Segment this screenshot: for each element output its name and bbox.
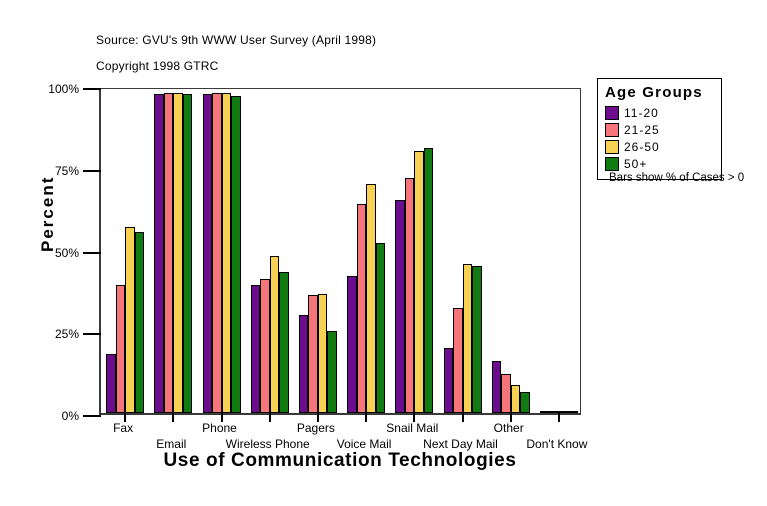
x-axis-tick-label: Don't Know	[526, 437, 587, 451]
y-axis-tick	[83, 170, 101, 172]
legend-entry: 26-50	[605, 138, 714, 155]
bar	[453, 308, 463, 413]
bar	[395, 200, 405, 413]
bar	[318, 294, 328, 413]
bar	[540, 411, 550, 413]
legend-swatch-icon	[605, 106, 619, 120]
bar	[164, 93, 174, 413]
x-axis-tick-label: Snail Mail	[386, 421, 438, 435]
x-axis-tick-label: Fax	[113, 421, 133, 435]
x-axis-tick	[365, 413, 367, 422]
bar	[376, 243, 386, 413]
bar	[520, 392, 530, 413]
bar	[212, 93, 222, 413]
bar	[472, 266, 482, 413]
x-axis-tick-label: Phone	[202, 421, 237, 435]
chart-legend: Age Groups 11-2021-2526-5050+	[597, 78, 722, 180]
legend-entry-label: 50+	[624, 157, 647, 171]
bar	[270, 256, 280, 413]
bar	[366, 184, 376, 413]
legend-entry: 11-20	[605, 104, 714, 121]
x-axis-title: Use of Communication Technologies	[99, 450, 581, 472]
legend-entry-label: 21-25	[624, 123, 660, 137]
bar-group	[203, 89, 241, 413]
bar	[347, 276, 357, 413]
legend-footnote: Bars show % of Cases > 0	[609, 172, 744, 184]
bar	[424, 148, 434, 413]
legend-swatch-icon	[605, 123, 619, 137]
bar	[357, 204, 367, 413]
x-axis-tick-label: Email	[156, 437, 186, 451]
bar	[559, 411, 569, 413]
y-axis-tick	[83, 252, 101, 254]
bar	[116, 285, 126, 413]
bar-group	[395, 89, 433, 413]
bar	[299, 315, 309, 413]
bar	[222, 93, 232, 413]
bar	[106, 354, 116, 413]
bar	[463, 264, 473, 413]
bar	[511, 385, 521, 413]
x-axis-tick-label: Pagers	[297, 421, 335, 435]
bar-group	[299, 89, 337, 413]
bar	[405, 178, 415, 413]
bar	[251, 285, 261, 413]
source-note: Source: GVU's 9th WWW User Survey (April…	[96, 33, 376, 47]
x-axis-tick	[462, 413, 464, 422]
y-axis-tick-label: 0%	[62, 409, 79, 423]
bar	[154, 94, 164, 413]
chart-plot-area: 0%25%50%75%100%	[101, 89, 580, 413]
bar	[135, 232, 145, 413]
y-axis-tick-label: 50%	[55, 246, 79, 260]
legend-entry: 21-25	[605, 121, 714, 138]
bar	[308, 295, 318, 413]
y-axis-tick	[83, 88, 101, 90]
x-axis-tick-label: Wireless Phone	[226, 437, 310, 451]
bar	[568, 411, 578, 413]
x-axis-tick-label: Other	[494, 421, 524, 435]
x-axis-tick	[269, 413, 271, 422]
bar	[173, 93, 183, 413]
y-axis-tick	[83, 415, 101, 417]
bar-group	[251, 89, 289, 413]
bar	[183, 94, 193, 413]
legend-entry-list: 11-2021-2526-5050+	[605, 104, 714, 172]
bar	[231, 96, 241, 413]
copyright-note: Copyright 1998 GTRC	[96, 59, 219, 73]
bar	[279, 272, 289, 413]
bar-group	[492, 89, 530, 413]
legend-swatch-icon	[605, 140, 619, 154]
bar	[203, 94, 213, 413]
bar-group	[444, 89, 482, 413]
y-axis-title: Percent	[38, 176, 58, 252]
x-axis-tick	[558, 413, 560, 422]
x-axis-tick-label: Next Day Mail	[423, 437, 498, 451]
bar-group	[154, 89, 192, 413]
legend-title: Age Groups	[605, 84, 714, 101]
bar	[260, 279, 270, 413]
bar	[327, 331, 337, 413]
y-axis-tick	[83, 333, 101, 335]
y-axis-tick-label: 25%	[55, 327, 79, 341]
chart-plot-frame: 0%25%50%75%100%	[99, 88, 581, 415]
y-axis-tick-label: 100%	[48, 82, 79, 96]
bar-group	[540, 89, 578, 413]
bar	[125, 227, 135, 413]
x-axis-tick-label: Voice Mail	[337, 437, 392, 451]
y-axis-tick-label: 75%	[55, 164, 79, 178]
legend-entry-label: 26-50	[624, 140, 660, 154]
bar	[492, 361, 502, 413]
legend-entry-label: 11-20	[624, 106, 659, 120]
x-axis-tick	[172, 413, 174, 422]
bar	[444, 348, 454, 413]
legend-entry: 50+	[605, 155, 714, 172]
bar	[501, 374, 511, 413]
bar-group	[106, 89, 144, 413]
bar-group	[347, 89, 385, 413]
bar	[414, 151, 424, 413]
legend-swatch-icon	[605, 157, 619, 171]
